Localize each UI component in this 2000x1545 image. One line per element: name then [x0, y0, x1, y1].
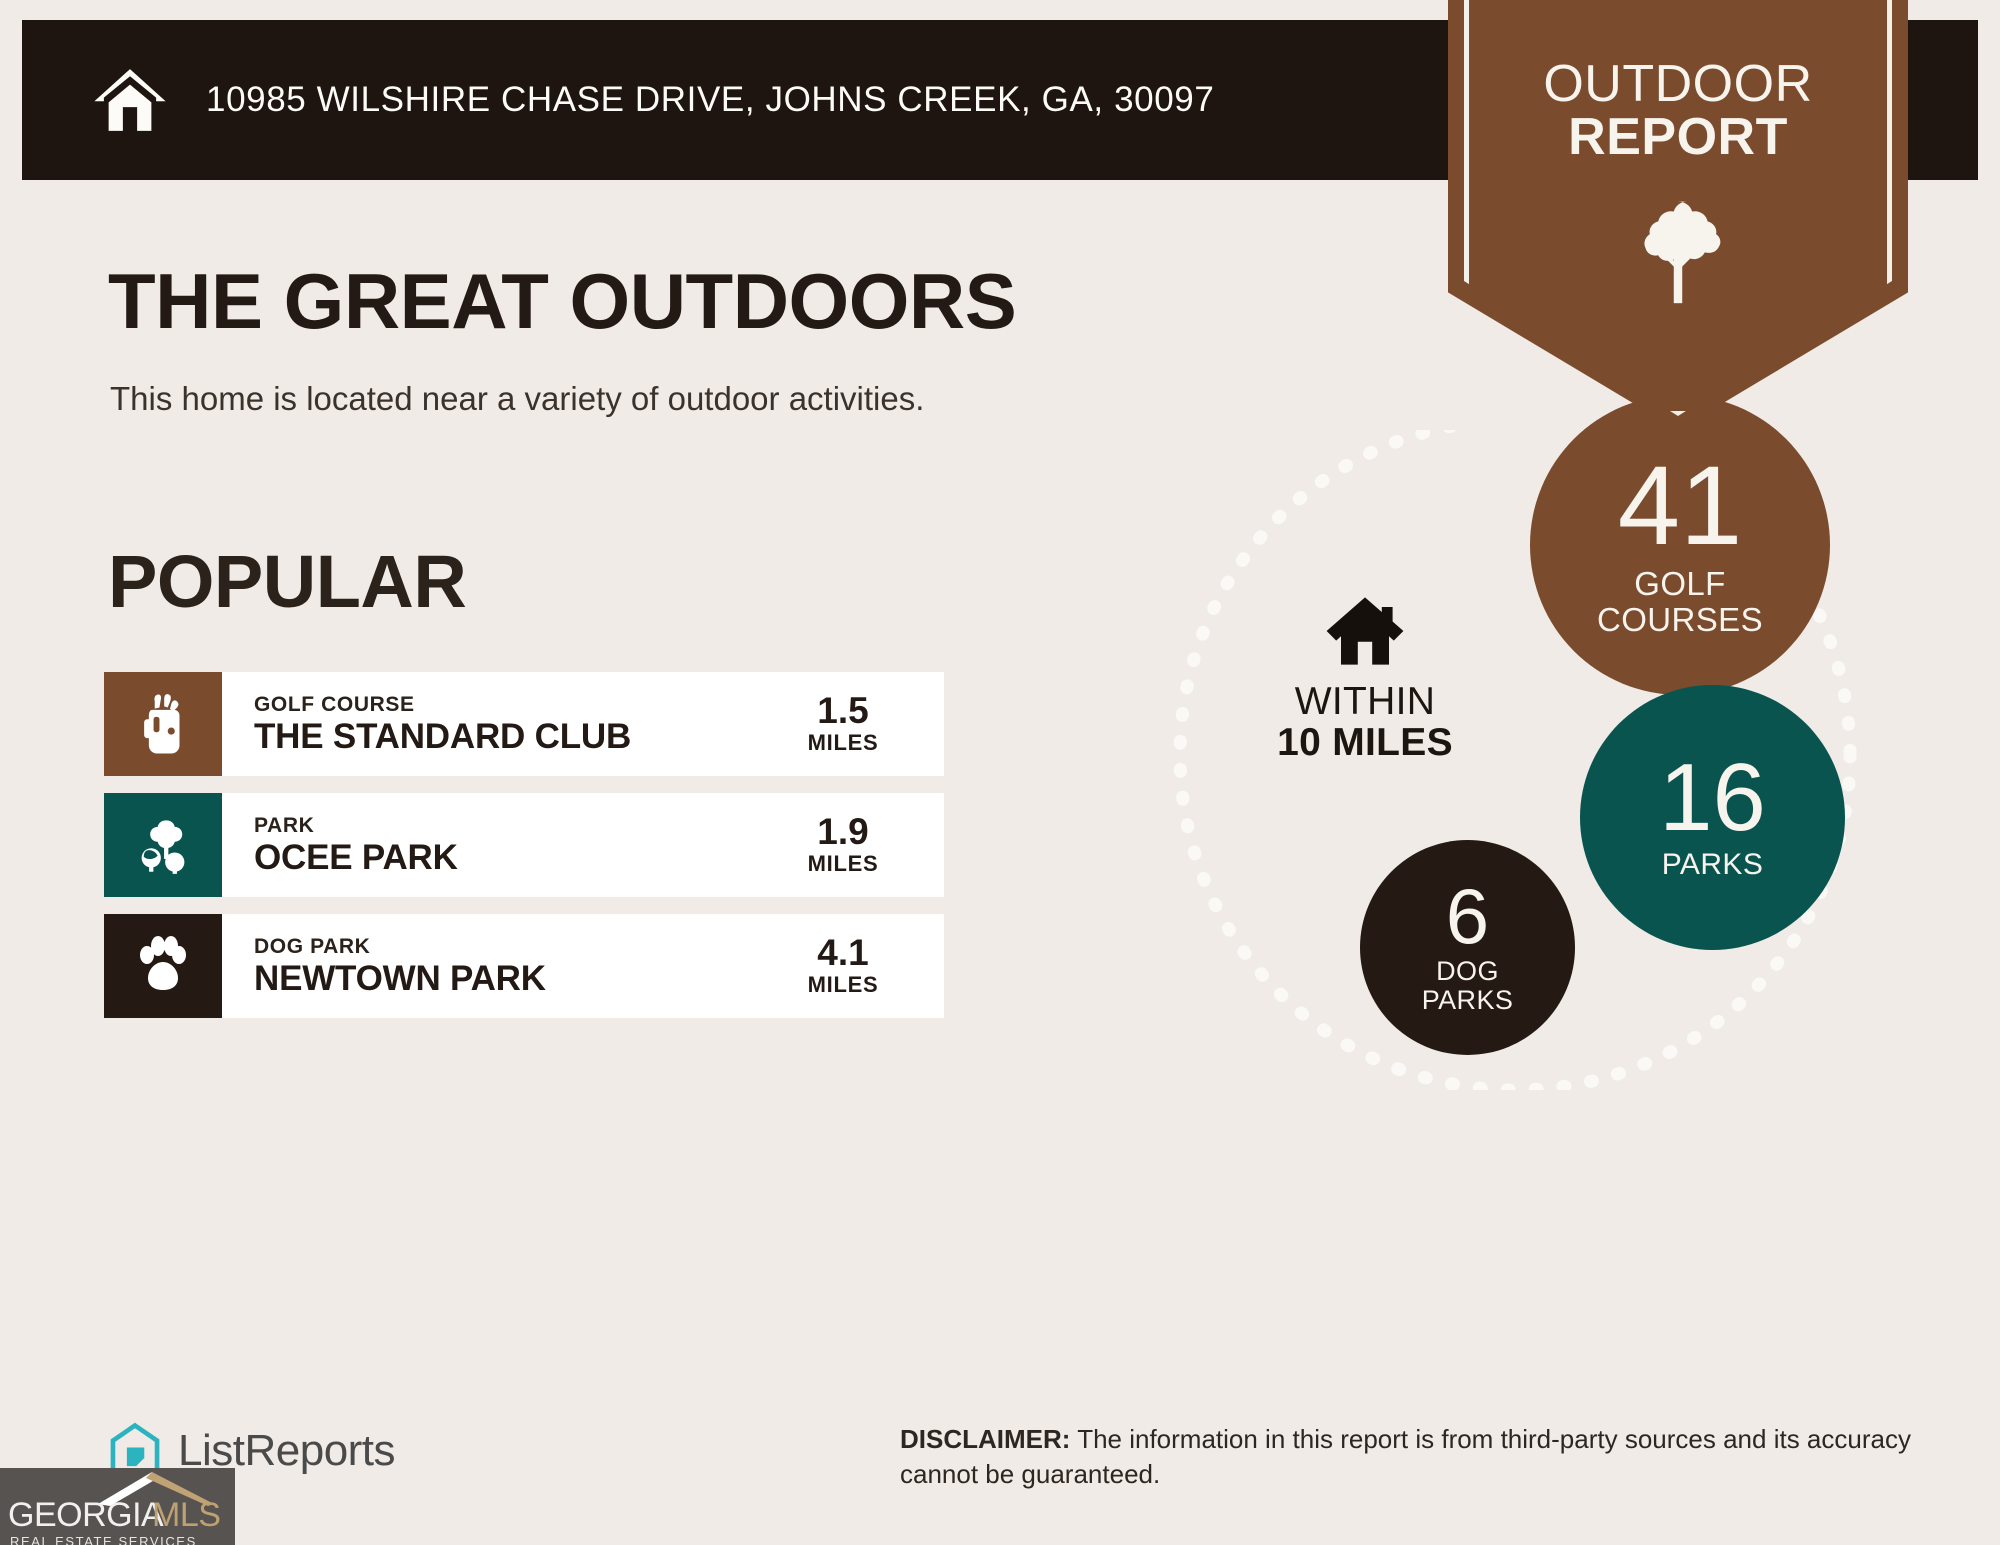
center-label-line1: WITHIN [1295, 681, 1435, 722]
disclaimer: DISCLAIMER: The information in this repo… [900, 1422, 1920, 1492]
within-10-miles-chart: WITHIN 10 MILES 41 GOLF COURSES 16 PARKS… [1060, 430, 1960, 1090]
stat-bubble-dog-parks[interactable]: 6 DOG PARKS [1360, 840, 1575, 1055]
list-item-name: OCEE PARK [254, 839, 768, 878]
list-item-text: PARK OCEE PARK [222, 793, 768, 897]
popular-list: GOLF COURSE THE STANDARD CLUB 1.5 MILES … [104, 672, 944, 1035]
distance-value: 1.9 [817, 813, 868, 852]
mls-name-gold: MLS [152, 1496, 220, 1535]
list-item-category: GOLF COURSE [254, 692, 768, 718]
list-item-distance: 1.9 MILES [768, 793, 944, 897]
list-item[interactable]: GOLF COURSE THE STANDARD CLUB 1.5 MILES [104, 672, 944, 776]
distance-value: 4.1 [817, 934, 868, 973]
badge-line1: OUTDOOR [1543, 55, 1812, 113]
list-item-category: DOG PARK [254, 934, 768, 960]
page-title: THE GREAT OUTDOORS [108, 262, 1016, 340]
stat-label-line1: GOLF [1597, 566, 1763, 602]
list-item-distance: 1.5 MILES [768, 672, 944, 776]
stat-value: 6 [1446, 880, 1489, 953]
trees-icon [104, 793, 222, 897]
golf-bag-icon [104, 672, 222, 776]
stat-bubble-golf-courses[interactable]: 41 GOLF COURSES [1530, 395, 1830, 695]
disclaimer-label: DISCLAIMER: [900, 1424, 1070, 1454]
distance-unit: MILES [808, 730, 879, 756]
stat-label-line2: PARKS [1422, 986, 1514, 1015]
chart-center-label: WITHIN 10 MILES [1230, 595, 1500, 765]
center-label-line2: 10 MILES [1277, 722, 1453, 765]
stat-label-line1: PARKS [1662, 849, 1763, 881]
list-item-name: THE STANDARD CLUB [254, 718, 768, 757]
badge-line2: REPORT [1448, 111, 1908, 164]
property-address: 10985 WILSHIRE CHASE DRIVE, JOHNS CREEK,… [206, 80, 1214, 120]
home-icon [1324, 595, 1406, 667]
stat-label-line2: COURSES [1597, 602, 1763, 638]
distance-unit: MILES [808, 972, 879, 998]
stat-label: DOG PARKS [1422, 957, 1514, 1015]
badge-text: OUTDOOR REPORT [1448, 58, 1908, 164]
outdoor-report-badge: OUTDOOR REPORT [1448, 0, 1908, 430]
list-item-category: PARK [254, 813, 768, 839]
stat-label: GOLF COURSES [1597, 566, 1763, 637]
list-item[interactable]: DOG PARK NEWTOWN PARK 4.1 MILES [104, 914, 944, 1018]
list-item-text: GOLF COURSE THE STANDARD CLUB [222, 672, 768, 776]
popular-heading: POPULAR [108, 545, 466, 619]
georgia-mls-logo: GEORGIA MLS REAL ESTATE SERVICES [0, 1468, 235, 1545]
list-item-name: NEWTOWN PARK [254, 960, 768, 999]
stat-bubble-parks[interactable]: 16 PARKS [1580, 685, 1845, 950]
paw-print-icon [104, 914, 222, 1018]
page-subtitle: This home is located near a variety of o… [110, 380, 924, 418]
mls-tagline: REAL ESTATE SERVICES [10, 1534, 197, 1545]
list-item-distance: 4.1 MILES [768, 914, 944, 1018]
stat-value: 16 [1659, 753, 1766, 843]
stat-value: 41 [1618, 453, 1743, 558]
distance-unit: MILES [808, 851, 879, 877]
stat-label: PARKS [1662, 849, 1763, 881]
stat-label-line1: DOG [1422, 957, 1514, 986]
mls-name-dark: GEORGIA [8, 1496, 163, 1535]
distance-value: 1.5 [817, 692, 868, 731]
home-icon [92, 62, 168, 138]
tree-icon [1635, 196, 1721, 306]
list-item-text: DOG PARK NEWTOWN PARK [222, 914, 768, 1018]
list-item[interactable]: PARK OCEE PARK 1.9 MILES [104, 793, 944, 897]
